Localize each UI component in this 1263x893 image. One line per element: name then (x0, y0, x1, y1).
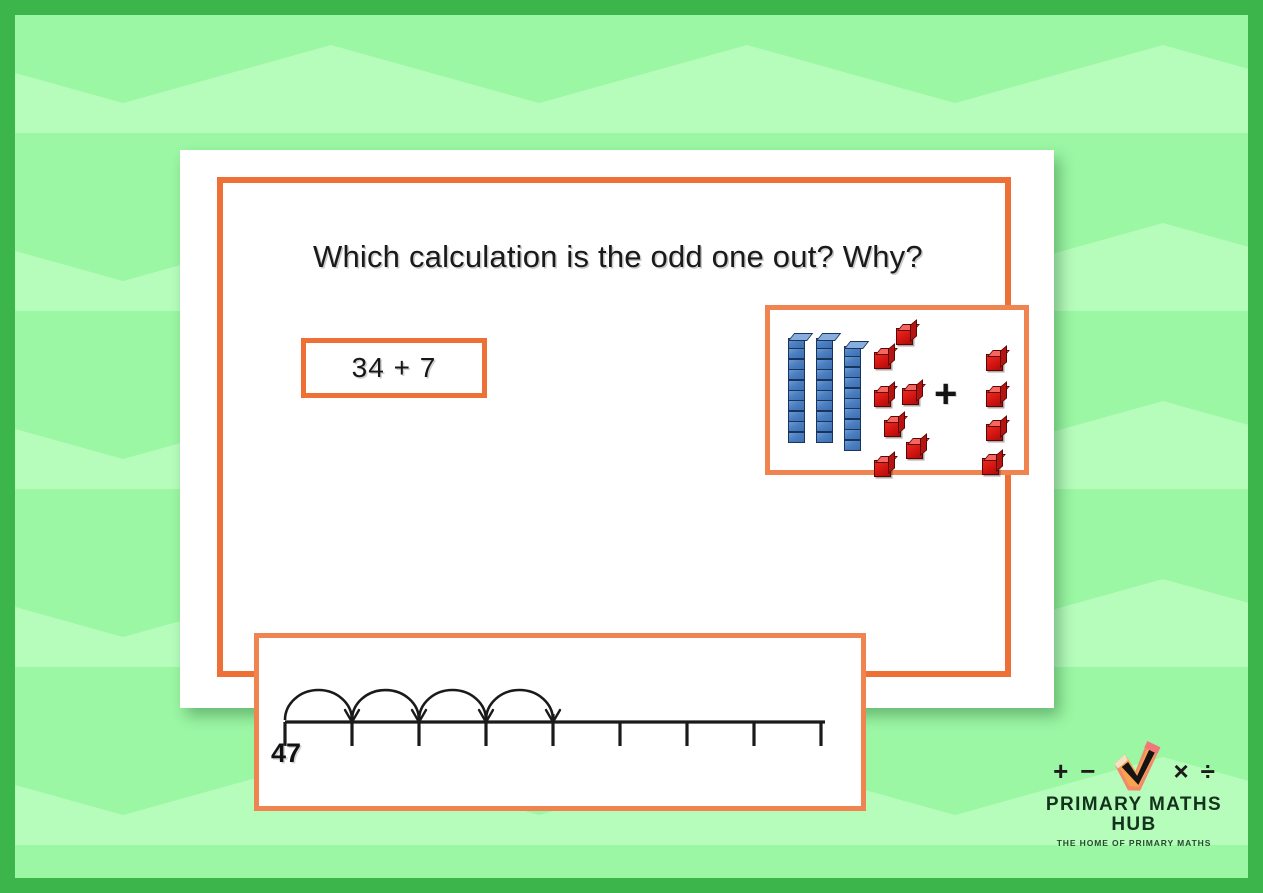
unit-cube (896, 328, 913, 345)
slide-card: Which calculation is the odd one out? Wh… (180, 150, 1054, 708)
calculation-box[interactable]: 34 + 7 (301, 338, 487, 398)
unit-cube (884, 420, 901, 437)
rod-top-face (816, 333, 841, 341)
slide-inner-frame: Which calculation is the odd one out? Wh… (217, 177, 1011, 677)
plus-icon: + (1053, 758, 1068, 784)
tens-rod (816, 338, 833, 442)
divide-icon: ÷ (1201, 758, 1215, 784)
tens-rod (788, 338, 805, 442)
unit-cube (874, 460, 891, 477)
base-ten-inner: + (774, 314, 1020, 466)
multiply-icon: × (1173, 758, 1188, 784)
unit-cube (986, 390, 1003, 407)
unit-cube (902, 388, 919, 405)
number-line-diagram (277, 654, 843, 754)
unit-cube (986, 424, 1003, 441)
calculation-label: 34 + 7 (352, 352, 437, 384)
unit-cube (982, 458, 999, 475)
minus-icon: − (1080, 758, 1095, 784)
unit-cube (906, 442, 923, 459)
logo-tagline: THE HOME OF PRIMARY MATHS (1028, 838, 1240, 848)
rod-top-face (788, 333, 813, 341)
base-ten-panel[interactable]: + (765, 305, 1029, 475)
plus-operator-icon: + (934, 374, 957, 414)
unit-cube (986, 354, 1003, 371)
tens-rod (844, 346, 861, 450)
number-line-panel[interactable]: 47 (254, 633, 866, 811)
unit-cube (874, 390, 891, 407)
logo-title: PRIMARY MATHS HUB (1028, 795, 1240, 835)
unit-cube (874, 352, 891, 369)
rod-top-face (844, 341, 869, 349)
logo-symbol-row: + − × ÷ (1028, 748, 1240, 794)
pencil-tick-icon (1107, 749, 1161, 793)
number-line-start-label: 47 (271, 738, 301, 769)
page-title: Which calculation is the odd one out? Wh… (313, 239, 1033, 275)
primary-maths-hub-logo[interactable]: + − × ÷ PRIMARY MATHS HUB THE HOME OF PR (1028, 748, 1240, 840)
